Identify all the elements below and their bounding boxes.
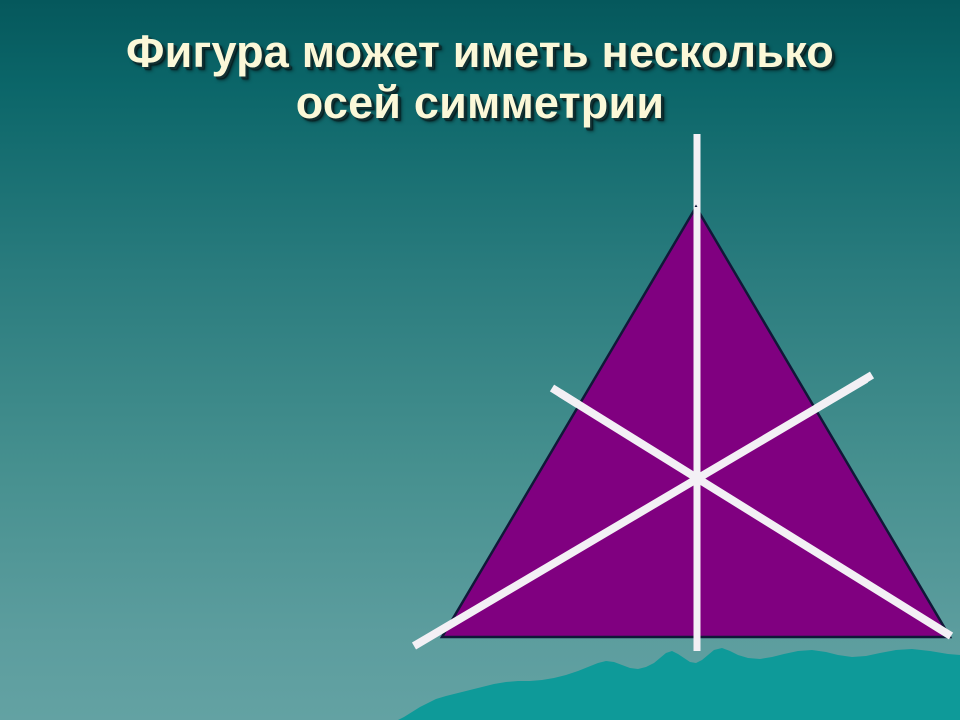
page-title: Фигура может иметь несколько осей симмет… — [0, 26, 960, 129]
title-line-1: Фигура может иметь несколько — [0, 26, 960, 77]
slide-canvas: Фигура может иметь несколько осей симмет… — [0, 0, 960, 720]
title-line-2: осей симметрии — [0, 77, 960, 128]
